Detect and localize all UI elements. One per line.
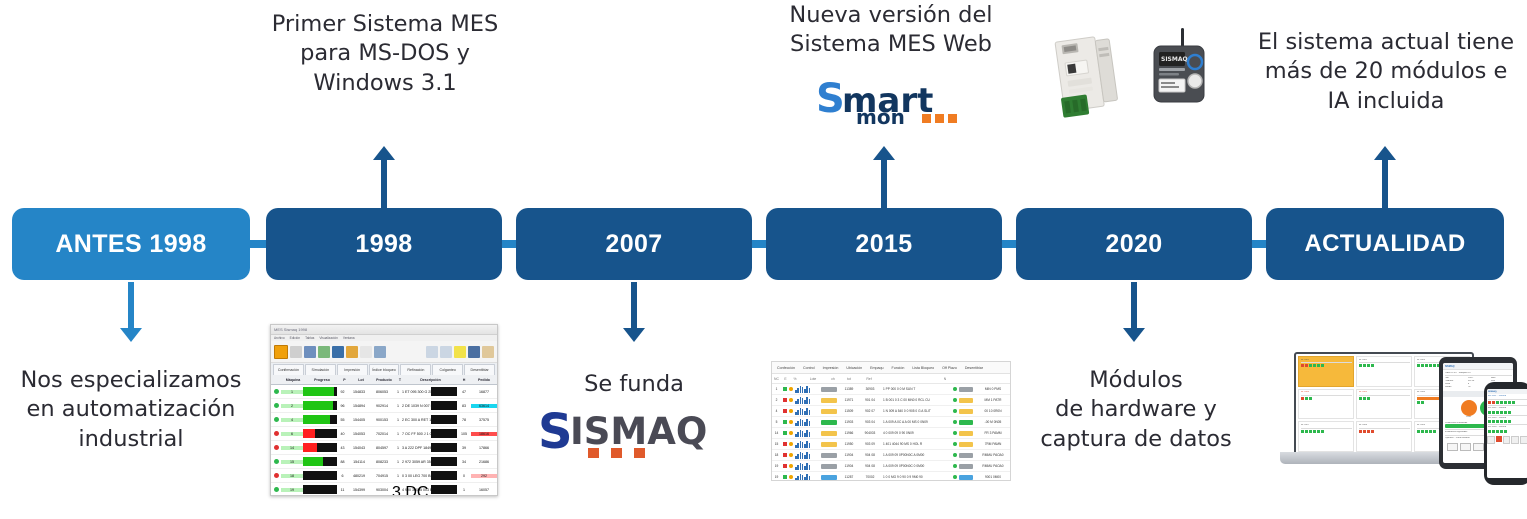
status-dot bbox=[274, 487, 279, 492]
cell-p: 92 bbox=[337, 390, 348, 394]
cell-status-dot bbox=[953, 431, 957, 435]
cell-status-dot bbox=[953, 409, 957, 413]
cell-product: 900153 bbox=[370, 418, 394, 422]
cell-description: 1 B 001 0 3 C 00 MN0 0 RCL CU bbox=[881, 398, 951, 402]
toolbar-icon-help[interactable] bbox=[482, 346, 494, 358]
cell-badge bbox=[959, 387, 973, 392]
cell-tag bbox=[821, 420, 837, 425]
sismaq-logo-svg: S ISMAQ bbox=[538, 408, 734, 460]
cell-order: 17866 bbox=[471, 446, 497, 450]
timeline-band: ANTES 1998 1998 2007 2015 2020 ACTUALIDA… bbox=[0, 208, 1527, 280]
sismaq-square-1 bbox=[588, 448, 599, 458]
timeline-node-2015[interactable]: 2015 bbox=[766, 208, 1002, 280]
column-header: Lot bbox=[350, 378, 372, 382]
cell-index: 2 bbox=[772, 398, 781, 402]
toolbar-icon-edit[interactable] bbox=[454, 346, 466, 358]
tab-empaqu[interactable]: Empaqu bbox=[870, 366, 883, 370]
cell-product: 808233 bbox=[370, 460, 394, 464]
status-dot bbox=[274, 473, 279, 478]
cell-t: 1 bbox=[394, 404, 402, 408]
legacy-table-body: 19215483380605311 ET 095 300 G 250 BL J … bbox=[271, 385, 497, 496]
phone-dashboard: SISMAQ ML 2001 · Turno A ML 2002 · Turno… bbox=[1487, 389, 1527, 478]
cell-sparkline bbox=[795, 397, 819, 404]
status-dot bbox=[274, 389, 279, 394]
cell-badge bbox=[959, 420, 973, 425]
cell-p: 11 bbox=[337, 488, 348, 492]
cell-h: 105 bbox=[457, 432, 471, 436]
column-header: NC bbox=[772, 377, 781, 381]
table-row[interactable]: 144315404380459713 A 222 DPF 1849 DO G/F… bbox=[271, 441, 497, 455]
cell-h: 47 bbox=[457, 390, 471, 394]
status-dot bbox=[274, 417, 279, 422]
toolbar-icon-import[interactable] bbox=[440, 346, 452, 358]
cell-p: 6 bbox=[337, 474, 348, 478]
cell-right: RMMU PAOA0 bbox=[976, 453, 1010, 457]
cell-description: 1 401 4044 90 MS 0 HOL R bbox=[881, 442, 951, 446]
cell-right: -00 M 0N05 bbox=[976, 420, 1010, 424]
cell-h: 34 bbox=[457, 460, 471, 464]
legacy-toolbar bbox=[271, 341, 497, 363]
table-row[interactable]: 29615489490291412 DE 1039 N 007 MO/H ROL… bbox=[271, 399, 497, 413]
status-dot bbox=[274, 431, 279, 436]
column-header: Ref bbox=[858, 377, 880, 381]
web-table-header: NC E % Lote ch tot Ref N bbox=[772, 374, 1010, 384]
menu-item[interactable]: Tablas bbox=[305, 336, 314, 340]
cell-badge bbox=[959, 475, 973, 480]
tab-confeccion[interactable]: Confección bbox=[777, 366, 795, 370]
tab-refinacion[interactable]: Refinación bbox=[400, 364, 431, 375]
cell-description: 0 3 00 LEG 700 BRP 1 CO CH OP/R/R bbox=[402, 474, 431, 478]
tab-indice-bloqueo[interactable]: Índice bloqueo bbox=[369, 364, 400, 375]
toolbar-icon-play[interactable] bbox=[360, 346, 372, 358]
cell-machine: 4 bbox=[281, 418, 303, 422]
cell-lot: 154405 bbox=[348, 418, 370, 422]
arrow-down-2007 bbox=[619, 282, 649, 342]
column-header: H bbox=[457, 378, 471, 382]
sismaq-logo: S ISMAQ bbox=[538, 408, 734, 460]
cell-index: 15 bbox=[772, 442, 781, 446]
cell-lot: 480219 bbox=[348, 474, 370, 478]
tab-impresion[interactable]: Impresión bbox=[337, 364, 368, 375]
cell-badge bbox=[959, 398, 973, 403]
cell-badge bbox=[959, 409, 973, 414]
column-header: E bbox=[781, 377, 790, 381]
table-row[interactable]: 45515440590015312 EC 300 A RET 1430 30 R… bbox=[271, 413, 497, 427]
web-tabs: Confección Control Impresión Ubicación E… bbox=[772, 362, 1010, 374]
cell-p: 40 bbox=[337, 432, 348, 436]
cell-t: 1 bbox=[394, 418, 402, 422]
toolbar-icon-export[interactable] bbox=[426, 346, 438, 358]
flag-dot bbox=[789, 431, 793, 435]
web-table-body: 111389309031 PP 000 0 0 M SUN TMIN 0 PMS… bbox=[772, 384, 1010, 481]
cell-progress bbox=[303, 485, 337, 494]
cell-right: MM 1 PATR bbox=[976, 398, 1010, 402]
table-row[interactable]: 211971901 041 B 001 0 3 C 00 MN0 0 RCL C… bbox=[772, 395, 1010, 406]
cell-lot: 11287 bbox=[839, 475, 859, 479]
cell-product: 903004 bbox=[370, 488, 394, 492]
din-rail-module-image bbox=[1048, 30, 1128, 122]
cell-status-dot bbox=[953, 475, 957, 479]
cell-badge bbox=[959, 453, 973, 458]
cell-machine: 19 bbox=[281, 488, 303, 492]
cell-h: 78 bbox=[457, 418, 471, 422]
cell-right: RMMU PAOA0 bbox=[976, 464, 1010, 468]
timeline-node-2007[interactable]: 2007 bbox=[516, 208, 752, 280]
cell-progress bbox=[303, 387, 337, 396]
table-row[interactable]: 511903903 041 A 009 A 0C A A 00 MS 0 0N0… bbox=[772, 417, 1010, 428]
tab-ubicacion[interactable]: Ubicación bbox=[846, 366, 862, 370]
smartmon-square-2 bbox=[935, 114, 944, 123]
cell-machine: 1 bbox=[281, 390, 303, 394]
cell-order: 37575 bbox=[471, 418, 497, 422]
cell-product: 30903 bbox=[859, 387, 881, 391]
column-header: ch bbox=[826, 377, 840, 381]
caption-actualidad: El sistema actual tienemás de 20 módulos… bbox=[1244, 28, 1527, 116]
cell-lot: 11950 bbox=[839, 442, 859, 446]
caption-2020: Módulosde hardware ycaptura de datos bbox=[1022, 366, 1250, 454]
flag-dot bbox=[789, 453, 793, 457]
cell-description: 3 DC 120 GL 85 N BFF 4950 PR bbox=[392, 484, 431, 497]
cell-progress bbox=[303, 443, 337, 452]
cell-badge bbox=[959, 464, 973, 469]
cell-p: 55 bbox=[337, 418, 348, 422]
cell-index: 5 bbox=[772, 420, 781, 424]
sismaq-rest: ISMAQ bbox=[570, 410, 707, 453]
tab-off-plazo[interactable]: Off Plazo bbox=[942, 366, 957, 370]
flag-dot bbox=[789, 442, 793, 446]
menu-item[interactable]: Ventana bbox=[343, 336, 355, 340]
menu-item[interactable]: Archivo bbox=[274, 336, 285, 340]
cell-right: 00 10 0R0N bbox=[976, 409, 1010, 413]
cell-index: 18 bbox=[772, 453, 781, 457]
cell-product: 902914 bbox=[370, 404, 394, 408]
cell-swatch bbox=[431, 485, 457, 494]
cell-h: 0 bbox=[457, 474, 471, 478]
caption-antes-1998: Nos especializamosen automatizaciónindus… bbox=[0, 366, 262, 454]
cell-swatch bbox=[431, 387, 457, 396]
cell-product: 704915 bbox=[370, 474, 394, 478]
cell-lot: 11903 bbox=[839, 420, 859, 424]
tab-colganteo[interactable]: Colganteo bbox=[432, 364, 463, 375]
column-header: N bbox=[880, 377, 1010, 381]
table-row[interactable]: 411509902 071 N 009 A 540 0 0 905 0 G A … bbox=[772, 406, 1010, 417]
svg-text:SISMAQ: SISMAQ bbox=[1161, 56, 1188, 63]
cell-tag bbox=[821, 409, 837, 414]
cell-lot: 11971 bbox=[839, 398, 859, 402]
timeline-node-2020[interactable]: 2020 bbox=[1016, 208, 1252, 280]
dashboard-card[interactable]: ML 2004 bbox=[1298, 389, 1354, 420]
menu-item[interactable]: Edición bbox=[290, 336, 300, 340]
cell-machine: 6 bbox=[281, 432, 303, 436]
arrow-down-2020 bbox=[1119, 282, 1149, 342]
cell-description: 1 N 009 A 540 0 0 905 0 G A SLIT bbox=[881, 409, 951, 413]
column-header: T bbox=[396, 378, 404, 382]
state-dot bbox=[783, 387, 787, 391]
cell-description: 3 A 222 DPF 1849 DO G/FEC/FRET bbox=[402, 446, 431, 450]
node-label: ANTES 1998 bbox=[55, 232, 206, 257]
toolbar-icon-print[interactable] bbox=[304, 346, 316, 358]
arrow-up-2015 bbox=[869, 146, 899, 208]
column-header: Máquina bbox=[281, 378, 305, 382]
cell-swatch bbox=[431, 401, 457, 410]
cell-lot: 11509 bbox=[839, 409, 859, 413]
cell-machine: 2 bbox=[281, 404, 303, 408]
cell-t: 1 bbox=[394, 460, 402, 464]
column-header: Progreso bbox=[305, 378, 339, 382]
cell-product: 903 09 bbox=[859, 442, 881, 446]
column-header: Descripción bbox=[404, 378, 457, 382]
cell-machine: 18 bbox=[281, 474, 303, 478]
cell-product: 904 08 bbox=[859, 453, 881, 457]
table-row[interactable]: 1811904904 081 A 009 09 0P00N0C A 0M00RM… bbox=[772, 450, 1010, 461]
tab-impresion[interactable]: Impresión bbox=[823, 366, 839, 370]
state-dot bbox=[783, 398, 787, 402]
smartmon-square-1 bbox=[922, 114, 931, 123]
cell-description: 2 972 3059 AR 35 LACAPCC 7 PLS/H N bbox=[402, 460, 431, 464]
table-row[interactable]: 1911904904 081 A 009 09 0P00N0C 0 0M00RM… bbox=[772, 461, 1010, 472]
cell-progress bbox=[303, 401, 337, 410]
table-row[interactable]: 64015405370201417 OC FF 500 J 1 CO J BRA… bbox=[271, 427, 497, 441]
dashboard-card[interactable]: ML 2002 bbox=[1356, 356, 1412, 387]
cell-lot: 154399 bbox=[348, 488, 370, 492]
sismaq-square-2 bbox=[611, 448, 622, 458]
cell-sparkline bbox=[795, 441, 819, 448]
cell-progress bbox=[303, 471, 337, 480]
cell-p: 88 bbox=[337, 460, 348, 464]
cell-badge bbox=[959, 431, 973, 436]
cell-right: MIN 0 PMS bbox=[976, 387, 1010, 391]
table-row[interactable]: 19215483380605311 ET 095 300 G 250 BL J … bbox=[271, 385, 497, 399]
cell-sparkline bbox=[795, 463, 819, 470]
legacy-titlebar: MES Sismaq 1998 bbox=[271, 325, 497, 335]
cell-progress bbox=[303, 457, 337, 466]
toolbar-icon-new[interactable] bbox=[274, 345, 288, 359]
cell-product: 904003 bbox=[859, 431, 881, 435]
table-row[interactable]: 14119669040034 0 009 09 0 90 0N09FR 3 PA… bbox=[772, 428, 1010, 439]
cell-t: 1 bbox=[394, 446, 402, 450]
table-row[interactable]: 18648021970491510 3 00 LEG 700 BRP 1 CO … bbox=[271, 469, 497, 483]
cell-t: 1 bbox=[394, 432, 402, 436]
table-row[interactable]: 111389309031 PP 000 0 0 M SUN TMIN 0 PMS bbox=[772, 384, 1010, 395]
cell-p: 96 bbox=[337, 404, 348, 408]
toolbar-icon-open[interactable] bbox=[290, 346, 302, 358]
cell-description: 1 0 0 MG 9 0 90 0 9 9M0 90 bbox=[881, 475, 951, 479]
cell-tag bbox=[821, 453, 837, 458]
cell-product: 901 04 bbox=[859, 398, 881, 402]
cell-tag bbox=[821, 431, 837, 436]
flag-dot bbox=[789, 387, 793, 391]
timeline-node-antes-1998[interactable]: ANTES 1998 bbox=[12, 208, 250, 280]
tab-desentibiar[interactable]: Desentibiar bbox=[965, 366, 983, 370]
dashboard-card[interactable]: ML 2007 bbox=[1298, 421, 1354, 452]
node-label: ACTUALIDAD bbox=[1304, 232, 1465, 256]
sismaq-s: S bbox=[538, 408, 573, 460]
status-dot bbox=[274, 445, 279, 450]
cell-machine: 14 bbox=[281, 446, 303, 450]
flag-dot bbox=[789, 409, 793, 413]
cell-lot: 154894 bbox=[348, 404, 370, 408]
timeline-infographic: Primer Sistema MESpara MS-DOS yWindows 3… bbox=[0, 0, 1527, 519]
cell-index: 4 bbox=[772, 409, 781, 413]
status-dot bbox=[274, 403, 279, 408]
cell-status-dot bbox=[953, 464, 957, 468]
cell-order: 16057 bbox=[471, 488, 497, 492]
cell-lot: 11904 bbox=[839, 453, 859, 457]
arrow-down-antes-1998 bbox=[116, 282, 146, 342]
smartmon-square-3 bbox=[948, 114, 957, 123]
toolbar-icon-grid[interactable] bbox=[318, 346, 330, 358]
responsive-devices-mockup: ML 2001 ML 2002 ML 2003 ML 2004 bbox=[1262, 352, 1527, 485]
wireless-gateway-svg: SISMAQ bbox=[1148, 26, 1210, 108]
cell-progress bbox=[303, 429, 337, 438]
timeline-node-1998[interactable]: 1998 bbox=[266, 208, 502, 280]
cell-progress bbox=[303, 415, 337, 424]
state-dot bbox=[783, 431, 787, 435]
status-dot bbox=[274, 459, 279, 464]
table-row[interactable]: 1911287700021 0 0 MG 9 0 90 0 9 9M0 9090… bbox=[772, 472, 1010, 481]
cell-description: 2 EC 300 A RET 1430 30 ROLL bbox=[402, 418, 431, 422]
node-label: 2015 bbox=[855, 232, 912, 257]
cell-swatch bbox=[431, 429, 457, 438]
table-row[interactable]: 191115439990300414 900 30005 003 BAT 343… bbox=[271, 483, 497, 496]
table-row[interactable]: 1511950903 091 401 4044 90 MS 0 HOL R7RM… bbox=[772, 439, 1010, 450]
cell-sparkline bbox=[795, 430, 819, 437]
cell-order: 292 bbox=[471, 474, 497, 478]
cell-description: 1 A 009 A 0C A A 00 MS 0 0N09 bbox=[881, 420, 951, 424]
sismaq-square-3 bbox=[634, 448, 645, 458]
caption-2015: Nueva versión delSistema MES Web bbox=[758, 1, 1024, 60]
cell-status-dot bbox=[953, 420, 957, 424]
toolbar-icon-table[interactable] bbox=[374, 346, 386, 358]
flag-dot bbox=[789, 420, 793, 424]
cell-status-dot bbox=[953, 398, 957, 402]
cell-swatch bbox=[431, 415, 457, 424]
tab-desentibiar[interactable]: Desentibiar bbox=[464, 364, 495, 375]
smartmon-mon: mon bbox=[856, 105, 905, 126]
column-header: Pedido bbox=[471, 378, 497, 382]
web-mes-screenshot: Confección Control Impresión Ubicación E… bbox=[771, 361, 1011, 481]
cell-machine: 15 bbox=[281, 460, 303, 464]
cell-order: 21686 bbox=[471, 460, 497, 464]
table-row[interactable]: 158815411480823312 972 3059 AR 35 LACAPC… bbox=[271, 455, 497, 469]
cell-index: 19 bbox=[772, 475, 781, 479]
cell-lot: 154043 bbox=[348, 446, 370, 450]
cell-p: 43 bbox=[337, 446, 348, 450]
column-header: tot bbox=[840, 377, 858, 381]
cell-right: 7RM PAMN bbox=[976, 442, 1010, 446]
cell-description: 1 A 009 09 0P00N0C A 0M00 bbox=[881, 453, 951, 457]
cell-description: 1 A 009 09 0P00N0C 0 0M00 bbox=[881, 464, 951, 468]
dashboard-card[interactable]: ML 2005 bbox=[1356, 389, 1412, 420]
wireless-gateway-image: SISMAQ bbox=[1148, 26, 1210, 108]
cell-lot: 154114 bbox=[348, 460, 370, 464]
smartmon-s: S bbox=[816, 78, 845, 122]
arrow-up-1998 bbox=[369, 146, 399, 208]
flag-dot bbox=[789, 398, 793, 402]
cell-tag bbox=[821, 398, 837, 403]
legacy-title-text: MES Sismaq 1998 bbox=[274, 327, 307, 332]
tab-simulacion[interactable]: Simulación bbox=[305, 364, 336, 375]
cell-h: 39 bbox=[457, 446, 471, 450]
cell-tag bbox=[821, 442, 837, 447]
state-dot bbox=[783, 464, 787, 468]
smartmon-logo: S mart mon bbox=[814, 78, 964, 126]
timeline-node-actualidad[interactable]: ACTUALIDAD bbox=[1266, 208, 1504, 280]
cell-product: 804597 bbox=[370, 446, 394, 450]
dashboard-card[interactable]: ML 2008 bbox=[1356, 421, 1412, 452]
cell-description: 1 PP 000 0 0 M SUN T bbox=[881, 387, 951, 391]
cell-sparkline bbox=[795, 474, 819, 481]
cell-order: 18616 bbox=[471, 432, 497, 436]
cell-description: 1 ET 095 300 G 250 BL J ENJ/BR CL bbox=[402, 390, 431, 394]
cell-sparkline bbox=[795, 408, 819, 415]
cell-index: 1 bbox=[772, 387, 781, 391]
tab-funcion[interactable]: Función bbox=[892, 366, 905, 370]
cell-t: 1 bbox=[394, 474, 402, 478]
state-dot bbox=[783, 409, 787, 413]
cell-product: 70002 bbox=[859, 475, 881, 479]
toolbar-icon-chart[interactable] bbox=[468, 346, 480, 358]
state-dot bbox=[783, 475, 787, 479]
cell-order: 63614 bbox=[471, 404, 497, 408]
cell-t: 1 bbox=[394, 390, 402, 394]
tab-control[interactable]: Control bbox=[803, 366, 815, 370]
cell-h: 83 bbox=[457, 404, 471, 408]
cell-product: 904 08 bbox=[859, 464, 881, 468]
cell-lot: 154053 bbox=[348, 432, 370, 436]
menu-item[interactable]: Visualización bbox=[319, 336, 338, 340]
smartmon-logo-svg: S mart mon bbox=[814, 78, 964, 126]
cell-badge bbox=[959, 442, 973, 447]
cell-sparkline bbox=[795, 419, 819, 426]
node-label: 1998 bbox=[355, 232, 412, 257]
column-header: Lote bbox=[800, 377, 826, 381]
cell-tag bbox=[821, 464, 837, 469]
cell-tag bbox=[821, 387, 837, 392]
cell-swatch bbox=[431, 443, 457, 452]
cell-description: 7 OC FF 500 J 1 CO J BRAFTE R bbox=[402, 432, 431, 436]
cell-right: 9001 0M00 bbox=[976, 475, 1010, 479]
button-icon bbox=[1188, 74, 1202, 88]
legacy-tabs: Confirmación Simulación Impresión Índice… bbox=[271, 363, 497, 375]
state-dot bbox=[783, 420, 787, 424]
tab-lista-bloqueo[interactable]: Lista Bloqueo bbox=[912, 366, 934, 370]
cell-status-dot bbox=[953, 442, 957, 446]
toolbar-icon-folder[interactable] bbox=[346, 346, 358, 358]
cell-lot: 11389 bbox=[839, 387, 859, 391]
column-header: % bbox=[790, 377, 800, 381]
cell-product: 806053 bbox=[370, 390, 394, 394]
cell-description: 4 0 009 09 0 90 0N09 bbox=[881, 431, 951, 435]
legacy-mes-screenshot: MES Sismaq 1998 Archivo Edición Tablas V… bbox=[270, 324, 498, 496]
cell-index: 14 bbox=[772, 431, 781, 435]
toolbar-icon-report[interactable] bbox=[332, 346, 344, 358]
caption-1998: Primer Sistema MESpara MS-DOS yWindows 3… bbox=[252, 10, 518, 98]
flag-dot bbox=[789, 475, 793, 479]
din-rail-module-svg bbox=[1048, 30, 1128, 122]
column-header: Producto bbox=[372, 378, 396, 382]
tab-confirmacion[interactable]: Confirmación bbox=[273, 364, 304, 375]
cell-status-dot bbox=[953, 453, 957, 457]
antenna-icon bbox=[1181, 28, 1184, 48]
cell-description: 2 DE 1039 N 007 MO/H ROLL DIR bbox=[402, 404, 431, 408]
node-label: 2007 bbox=[605, 232, 662, 257]
flag-dot bbox=[789, 464, 793, 468]
caption-2007: Se funda bbox=[520, 370, 748, 399]
cell-h: 1 bbox=[457, 488, 471, 492]
cell-lot: 154833 bbox=[348, 390, 370, 394]
dashboard-card[interactable]: ML 2001 bbox=[1298, 356, 1354, 387]
